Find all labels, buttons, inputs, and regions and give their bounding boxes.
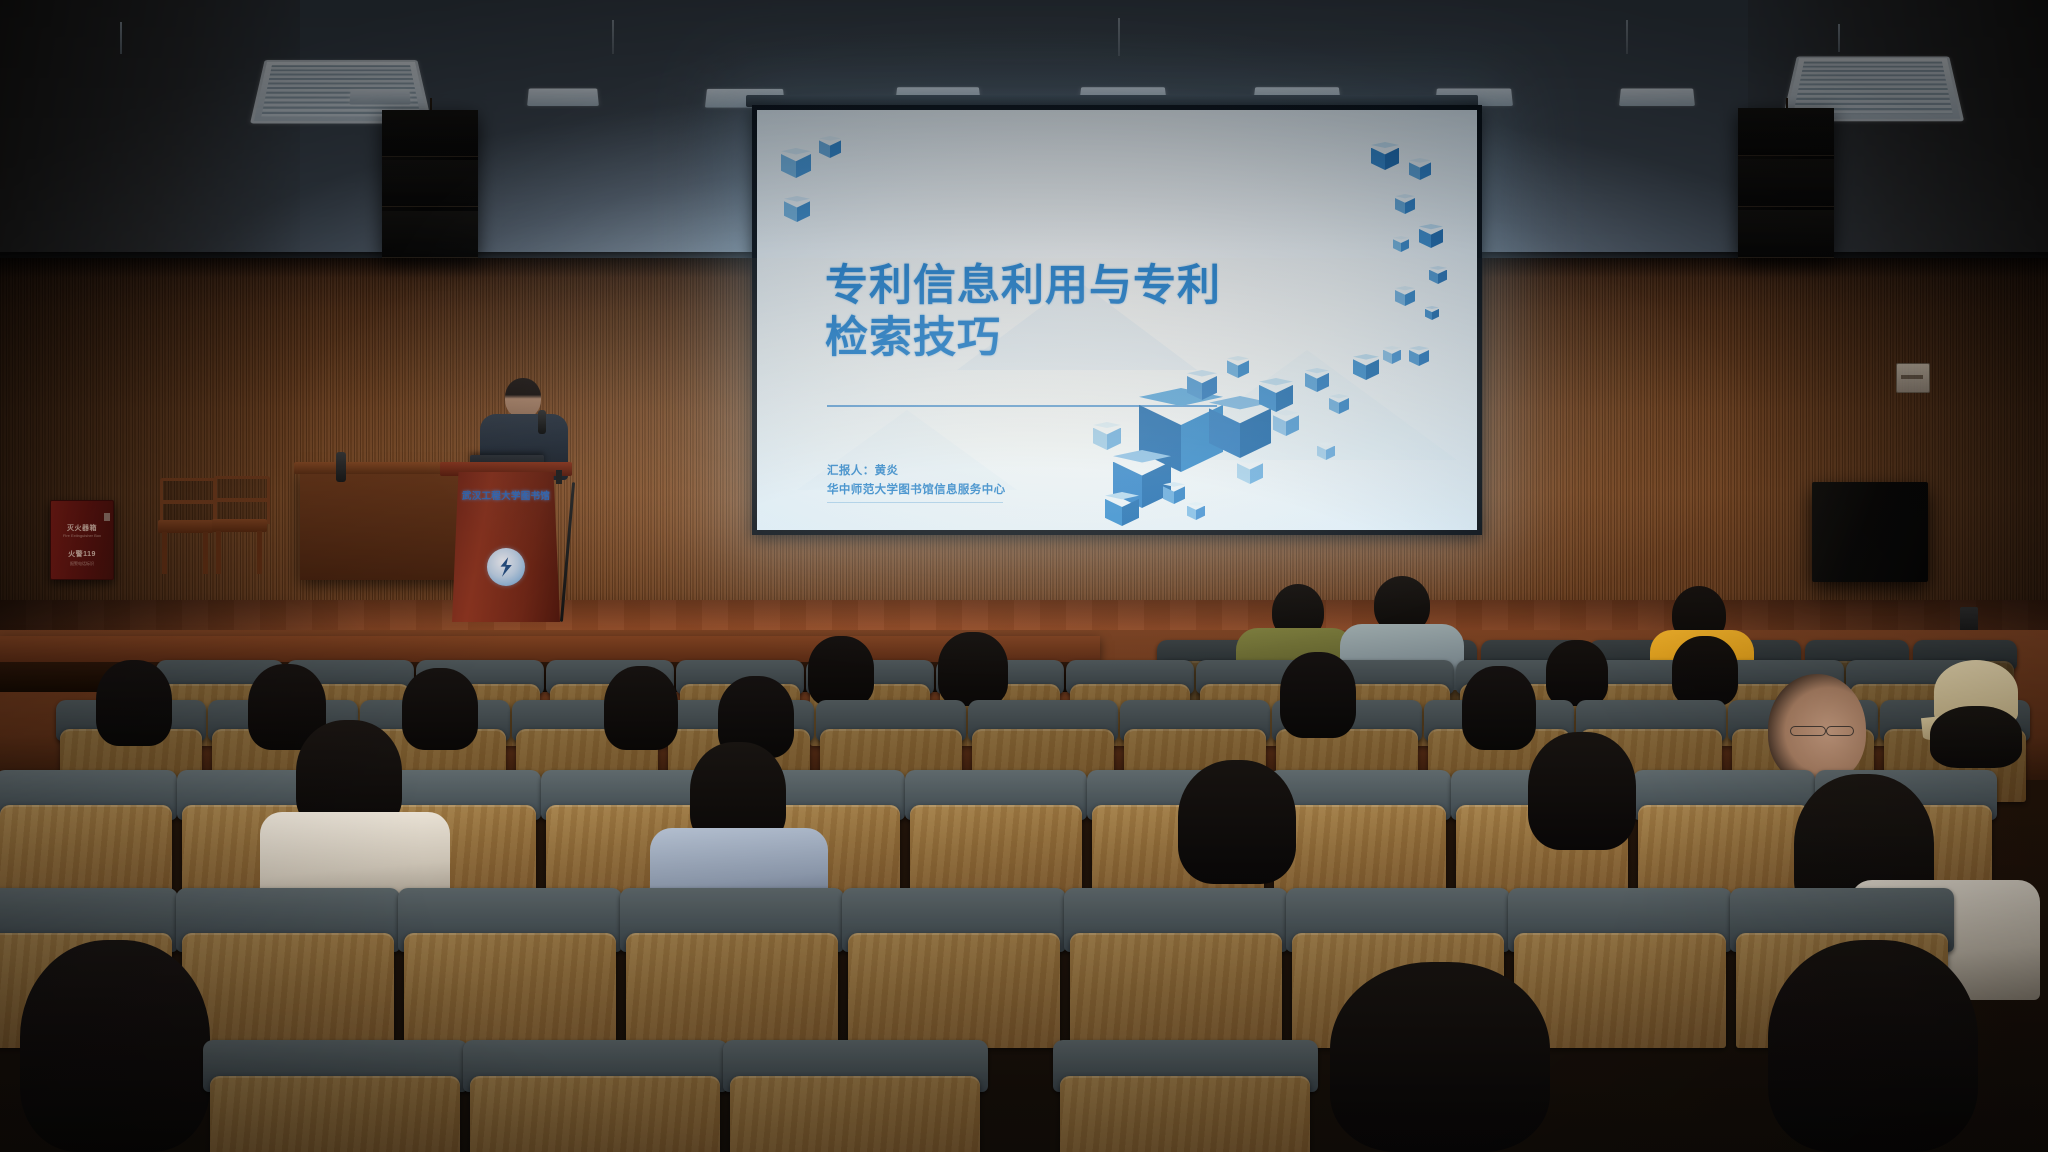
seat-back: [1274, 805, 1446, 894]
attendee-head-r3-g: [1462, 666, 1536, 750]
table-microphone-icon: [336, 452, 346, 482]
wooden-chair-1: [160, 478, 210, 574]
attendee-head-r4-b: [1528, 732, 1636, 850]
chair-leg: [203, 532, 208, 574]
fire-box-sub-label: 报警电话标识: [51, 561, 113, 567]
attendee-head-r3-a: [96, 660, 172, 746]
presenter-head: [505, 378, 541, 418]
cube-icon-r-2: [1409, 158, 1431, 180]
fire-box-label-en: Fire Extinguisher Box: [51, 533, 113, 538]
cube-icon-r-5: [1393, 236, 1409, 252]
podium-front-text: 武汉工程大学图书馆: [452, 488, 560, 502]
speaker-array-right: [1738, 108, 1834, 258]
ceiling-hook-1: [120, 22, 122, 54]
seat-back: [848, 933, 1060, 1048]
chair-leg: [216, 531, 221, 574]
auditorium-photo: 专利信息利用与专利 检索技巧 汇报人：黄炎 华中师范大学图书馆信息服务中心: [0, 0, 2048, 1152]
ceiling-hook-5: [1838, 24, 1840, 52]
fire-box-label-cn: 灭火器箱: [51, 523, 113, 533]
seat-back: [210, 1076, 460, 1152]
ceiling-hook-4: [1626, 20, 1628, 54]
cube-icon-r-3: [1395, 194, 1415, 214]
seat-r6-c4[interactable]: [1060, 1040, 1310, 1152]
fire-extinguisher-box: 灭火器箱 Fire Extinguisher Box 火警119 报警电话标识: [50, 500, 114, 580]
seat-back: [910, 805, 1082, 894]
attendee-head-r2-c: [1546, 640, 1608, 706]
attendee-head-r3-c: [402, 668, 478, 750]
recessed-light-8: [349, 90, 410, 105]
recessed-light-7: [1619, 89, 1695, 106]
seat-back: [404, 933, 616, 1048]
speaker-array-left: [382, 110, 478, 258]
chair-back: [160, 478, 216, 525]
chair-back: [214, 476, 270, 524]
cube-icon-tl-2: [819, 136, 841, 158]
stage-subwoofer: [1812, 482, 1928, 582]
seat-back: [1638, 805, 1810, 894]
chair-leg: [257, 531, 262, 574]
seat-back: [1060, 1076, 1310, 1152]
seat-back: [182, 933, 394, 1048]
seat-r5-c5[interactable]: [848, 888, 1060, 1048]
attendee-head-fg-right: [1768, 940, 1978, 1152]
attendee-head-capped: [1930, 706, 2022, 768]
seat-r5-c4[interactable]: [626, 888, 838, 1048]
wooden-chair-2: [214, 476, 264, 574]
presenter-microphone: [538, 410, 546, 434]
wall-control-panel[interactable]: [1896, 363, 1930, 393]
seat-back: [0, 805, 172, 894]
ceiling-hook-3: [1118, 18, 1120, 56]
cube-icon-tl-1: [781, 148, 811, 178]
attendee-head-fg-left: [20, 940, 210, 1152]
attendee-head-fg-center: [1330, 962, 1550, 1152]
attendee-head-r2-d: [1672, 636, 1738, 706]
university-crest-logo-icon: [487, 548, 525, 586]
fire-box-latch-icon: [104, 513, 110, 521]
seat-r4-c1[interactable]: [0, 770, 172, 894]
wall-lighting-vignette: [0, 258, 2048, 638]
seat-r4-c6[interactable]: [910, 770, 1082, 894]
seat-r4-c10[interactable]: [1638, 770, 1810, 894]
attendee-head-r3-d: [604, 666, 678, 750]
seat-r4-c8[interactable]: [1274, 770, 1446, 894]
seat-r5-c3[interactable]: [404, 888, 616, 1048]
attendee-head-r4-center: [1178, 760, 1296, 884]
seat-r5-c2[interactable]: [182, 888, 394, 1048]
podium-mic-stand: [556, 470, 562, 484]
seat-r6-c3[interactable]: [730, 1040, 980, 1152]
recessed-light-1: [527, 89, 599, 106]
fire-box-emergency-number: 火警119: [51, 549, 113, 559]
attendee-head-r2-b: [938, 632, 1008, 706]
seat-back: [730, 1076, 980, 1152]
seat-back: [626, 933, 838, 1048]
glasses-icon: [1826, 726, 1854, 736]
cube-icon-tl-3: [784, 196, 810, 222]
seat-r6-c2[interactable]: [470, 1040, 720, 1152]
attendee-head-r3-f: [1280, 652, 1356, 738]
seat-r6-c1[interactable]: [210, 1040, 460, 1152]
chair-leg: [162, 532, 167, 574]
glasses-icon: [1790, 726, 1826, 736]
ceiling-hook-2: [612, 20, 614, 54]
cube-icon-r-4: [1419, 224, 1443, 248]
seat-back: [1070, 933, 1282, 1048]
seat-back: [470, 1076, 720, 1152]
attendee-head-r2-a: [808, 636, 874, 706]
cube-icon-r-1: [1371, 142, 1399, 170]
seat-r5-c6[interactable]: [1070, 888, 1282, 1048]
